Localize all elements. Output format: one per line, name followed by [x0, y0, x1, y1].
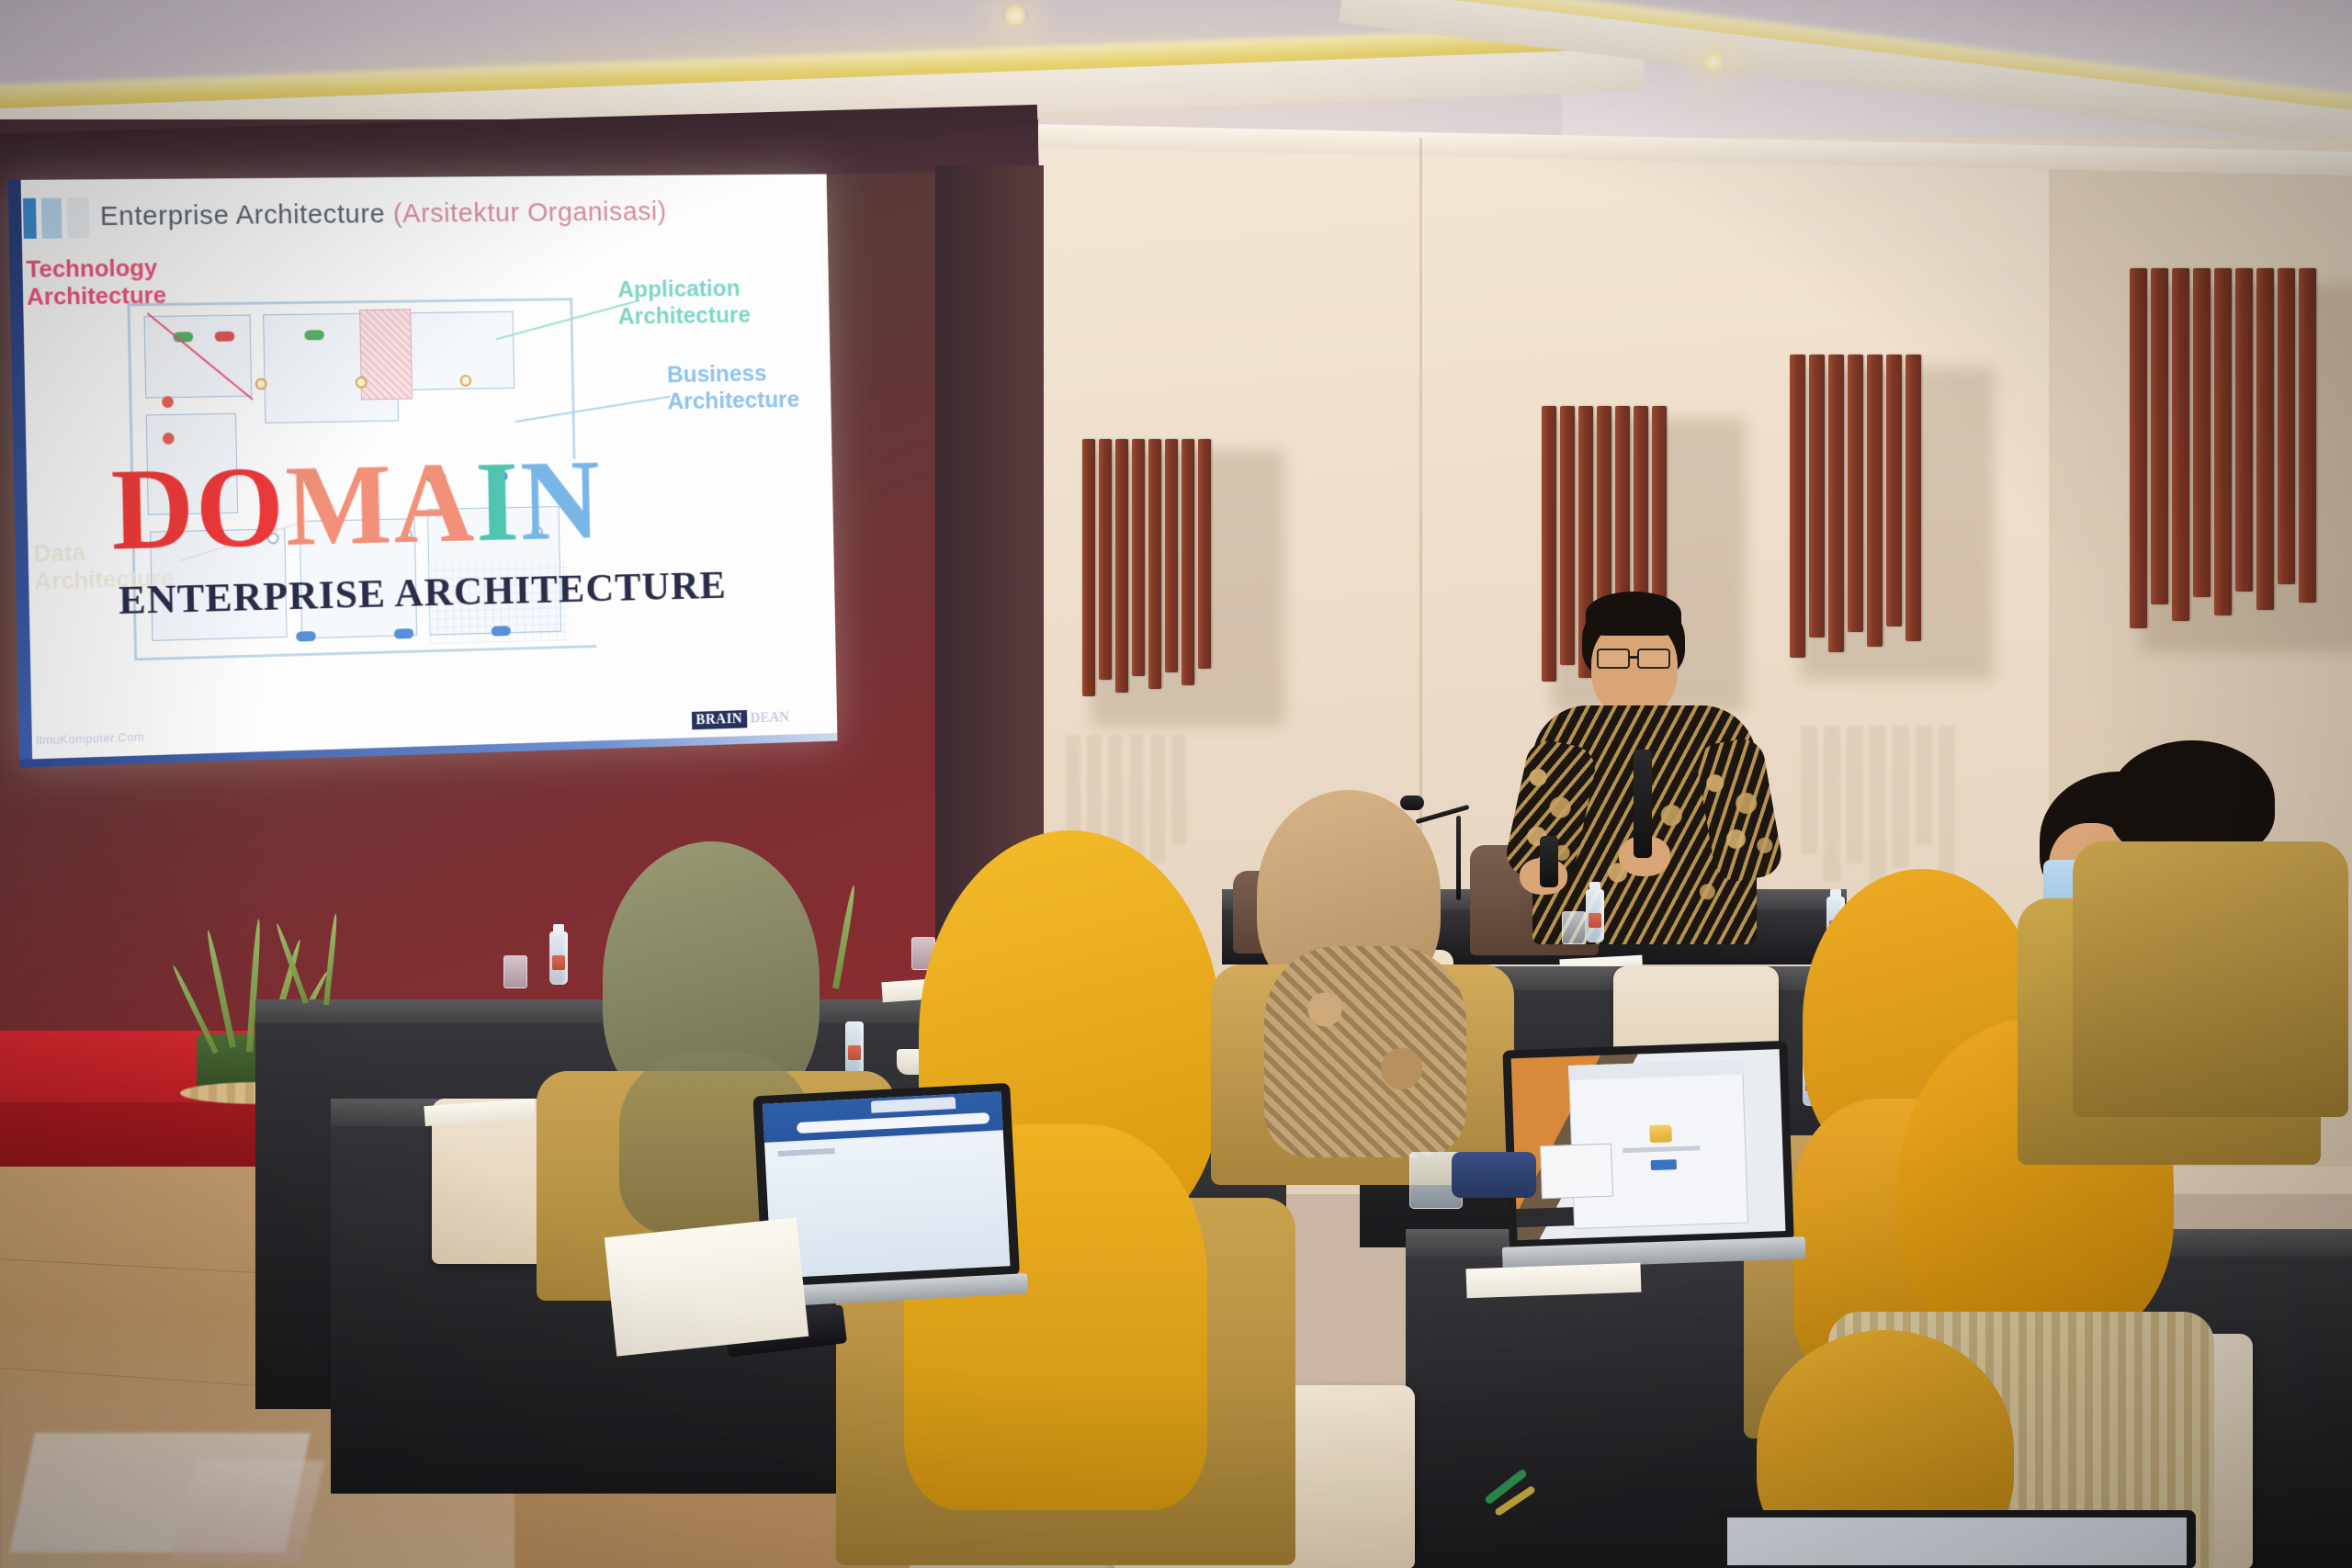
slide-title-id: (Arsitektur Organisasi) — [393, 197, 667, 229]
hero-letter-i-4: I — [474, 446, 521, 559]
diagram-marker — [394, 628, 413, 638]
presenter — [1525, 595, 1764, 963]
downlight-2 — [1700, 51, 1727, 72]
folder-icon — [1649, 1124, 1672, 1143]
file-dialog-primary-button[interactable] — [1651, 1159, 1677, 1170]
attendee-back-khaki — [2073, 740, 2348, 1108]
hero-letter-a-3: A — [392, 446, 477, 562]
brain-logo-box: BRAIN — [692, 710, 747, 729]
label-application-line1: Application — [617, 275, 751, 303]
brain-logo: BRAIN DEAN — [692, 709, 790, 730]
eyeglasses-bridge — [1629, 656, 1638, 659]
handheld-microphone — [1634, 750, 1652, 858]
label-application-architecture: Application Architecture — [617, 275, 751, 330]
laptop-right[interactable] — [1502, 1040, 1804, 1298]
presentation-clicker — [1540, 836, 1558, 887]
eyeglasses-left-lens — [1597, 649, 1630, 669]
diagram-marker — [304, 330, 324, 340]
drinking-glass — [1562, 911, 1586, 944]
diagram-marker — [215, 332, 235, 342]
pencil-case — [1452, 1152, 1536, 1198]
laptop-right-screen[interactable] — [1511, 1049, 1786, 1240]
hero-letter-d-0: D — [110, 452, 197, 569]
hero-letter-n-5: N — [519, 445, 603, 559]
photo-canvas: Enterprise Architecture (Arsitektur Orga… — [0, 0, 2352, 1568]
attendee-patterned-scarf — [1211, 790, 1523, 1176]
diagram-node — [255, 378, 267, 390]
laptop-bottom-right[interactable] — [1718, 1510, 2196, 1568]
tablet-or-paper — [1465, 1263, 1641, 1299]
label-business-line2: Architecture — [667, 386, 799, 415]
hero-letter-m-2: M — [285, 448, 395, 565]
slide-footer-credit: IlmuKomputer.Com — [36, 730, 145, 748]
laptop-bottom-right-screen[interactable] — [1727, 1517, 2187, 1565]
board-reflection-on-floor — [171, 1461, 324, 1562]
label-technology-line1: Technology — [26, 254, 165, 283]
hero-letter-o-1: O — [195, 450, 287, 567]
scarf-patterned-drape — [1264, 946, 1466, 1157]
brain-logo-tail: DEAN — [750, 710, 789, 728]
slat-panel-1 — [1082, 439, 1211, 696]
label-application-line2: Architecture — [618, 301, 752, 330]
label-business-line1: Business — [667, 359, 799, 389]
bottle-cap — [1589, 882, 1600, 891]
presenter-hair-top — [1586, 592, 1681, 636]
slide-accent-swatches — [23, 197, 89, 239]
projected-slide: Enterprise Architecture (Arsitektur Orga… — [8, 174, 838, 767]
taskbar[interactable] — [1516, 1207, 1574, 1227]
notebook — [605, 1217, 808, 1356]
slide-title-en: Enterprise Architecture — [100, 199, 386, 231]
diagram-node — [356, 377, 367, 389]
diagram-marker — [296, 631, 316, 641]
label-technology-architecture: Technology Architecture — [26, 254, 166, 310]
label-technology-line2: Architecture — [27, 281, 166, 310]
hero-word-domain: DOMAIN — [110, 445, 594, 570]
water-bottle — [1586, 889, 1604, 942]
diagram-marker — [492, 626, 511, 636]
diagram-node — [162, 396, 174, 408]
slat-panel-3 — [1790, 355, 1921, 658]
downlight-1 — [1001, 6, 1029, 26]
uniform-khaki — [2073, 841, 2348, 1117]
eyeglasses-right-lens — [1637, 649, 1670, 669]
slide-title: Enterprise Architecture (Arsitektur Orga… — [100, 197, 668, 232]
slat-panel-4 — [2130, 268, 2316, 628]
secondary-dialog[interactable] — [1540, 1144, 1613, 1200]
label-business-architecture: Business Architecture — [667, 359, 800, 415]
slat-shadow-right — [1801, 726, 1955, 891]
